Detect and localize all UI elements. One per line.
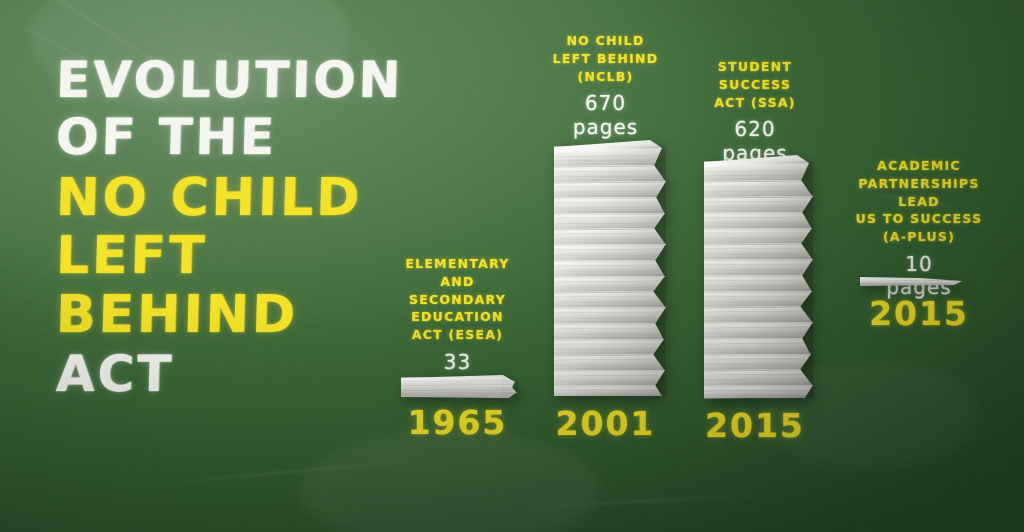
paper-stack-nclb: [550, 138, 672, 398]
esea-year: 1965: [390, 403, 525, 442]
title-line-1: EVOLUTION: [55, 56, 456, 105]
ssa-year: 2015: [690, 406, 820, 445]
paper-stack-aplus: [858, 273, 970, 293]
act-group-aplus: ACADEMIC PARTNERSHIPS LEAD US TO SUCCESS…: [845, 157, 993, 337]
ssa-caption: STUDENT SUCCESS ACT (SSA) 620 pages: [690, 58, 820, 165]
chalkboard-infographic: EVOLUTION OF THE NO CHILD LEFT BEHIND AC…: [0, 0, 1024, 532]
act-group-esea: ELEMENTARY AND SECONDARY EDUCATION ACT (…: [390, 255, 525, 440]
aplus-year: 2015: [845, 294, 993, 333]
paper-stack-esea: [399, 371, 521, 401]
act-group-nclb: NO CHILD LEFT BEHIND (NCLB) 670 pages: [538, 32, 673, 442]
ssa-name: STUDENT SUCCESS ACT (SSA): [690, 58, 820, 111]
title-line-3: NO CHILD: [55, 173, 456, 223]
nclb-name: NO CHILD LEFT BEHIND (NCLB): [538, 32, 673, 85]
title-line-2: OF THE: [55, 113, 456, 162]
nclb-caption: NO CHILD LEFT BEHIND (NCLB) 670 pages: [538, 32, 673, 139]
paper-stack-ssa: [701, 152, 819, 400]
esea-name: ELEMENTARY AND SECONDARY EDUCATION ACT (…: [390, 255, 525, 344]
nclb-year: 2001: [538, 404, 673, 443]
nclb-pages: 670 pages: [538, 92, 673, 139]
act-group-ssa: STUDENT SUCCESS ACT (SSA) 620 pages: [690, 58, 820, 443]
aplus-name: ACADEMIC PARTNERSHIPS LEAD US TO SUCCESS…: [845, 157, 993, 246]
